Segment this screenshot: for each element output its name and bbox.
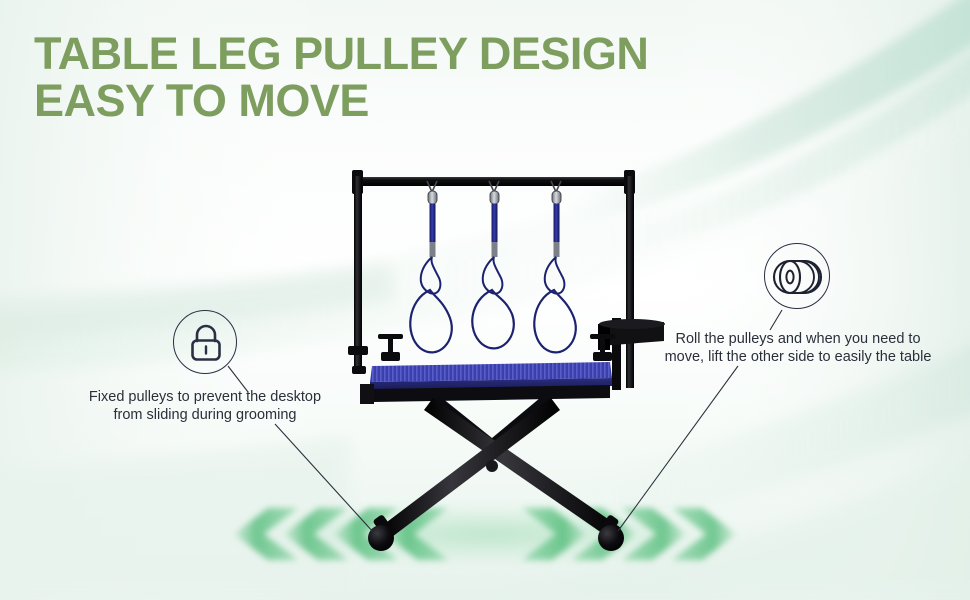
grooming-loop-3: [534, 181, 576, 352]
wheel-icon: [764, 243, 830, 309]
lock-icon: [173, 310, 237, 374]
clamp-right: [590, 334, 615, 361]
clamp-left: [378, 334, 403, 361]
grooming-loop-1: [410, 181, 452, 352]
grooming-loop-2: [472, 181, 514, 348]
callout-left-caption: Fixed pulleys to prevent the desktop fro…: [60, 388, 350, 424]
callout-right-caption: Roll the pulleys and when you need to mo…: [648, 330, 948, 366]
infographic-canvas: TABLE LEG PULLEY DESIGN EASY TO MOVE: [0, 0, 970, 600]
table-top: [360, 362, 612, 404]
caster-wheel-left: [368, 514, 394, 551]
x-legs: [379, 398, 621, 540]
